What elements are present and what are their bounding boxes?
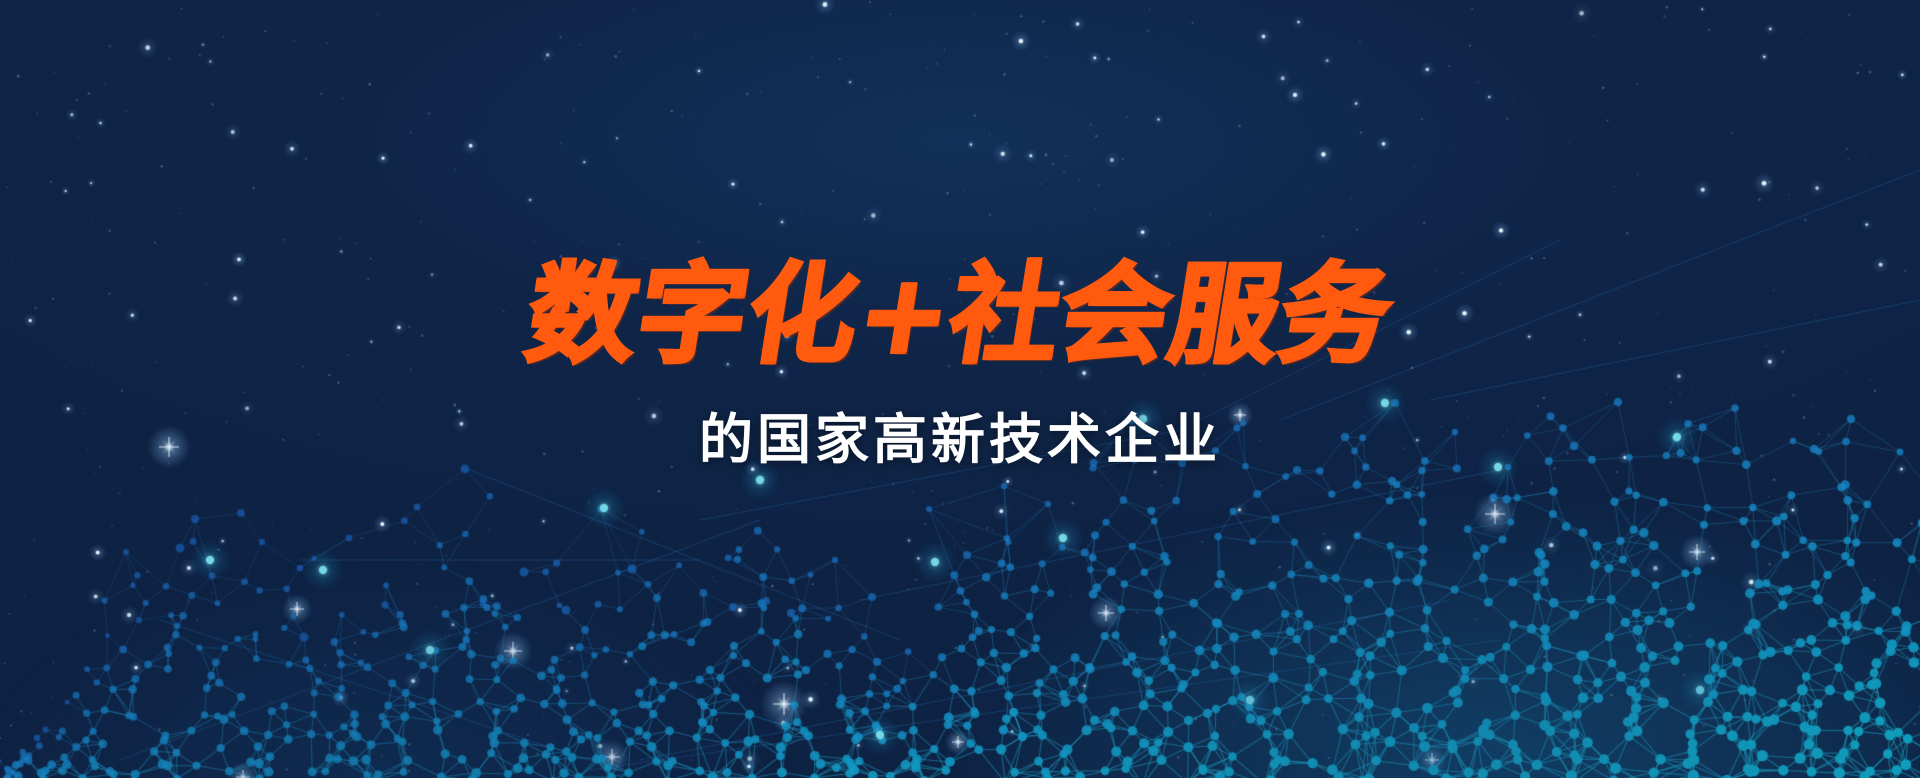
hero-banner: 数字化+社会服务 的国家高新技术企业: [0, 0, 1920, 778]
constellation-network-graphic: [0, 0, 1920, 778]
